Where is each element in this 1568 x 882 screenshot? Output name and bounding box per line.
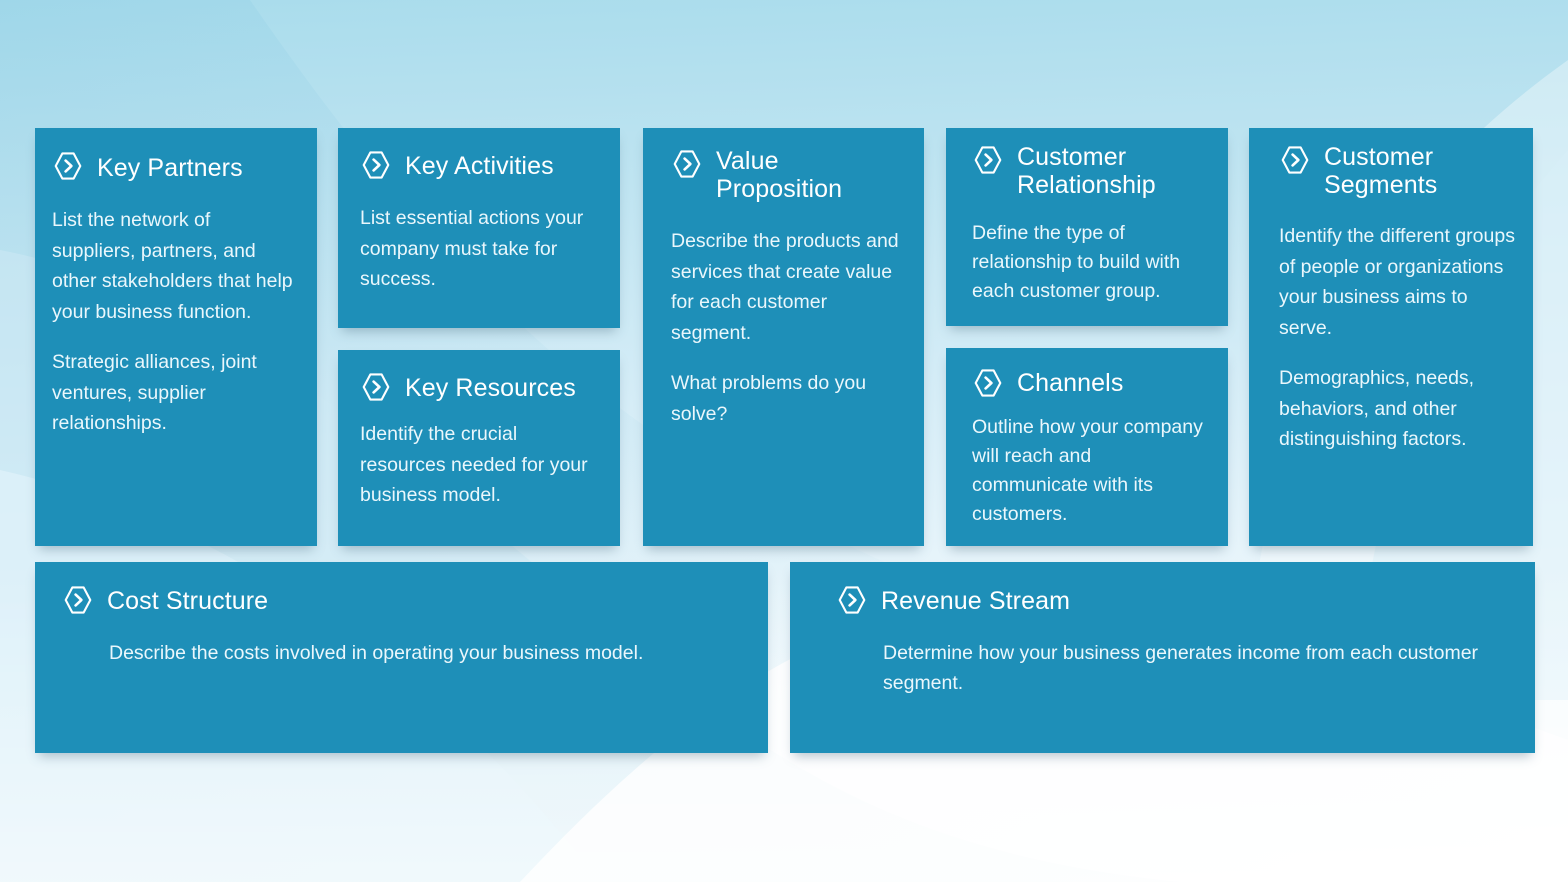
- card-title: Customer Segments: [1324, 144, 1519, 199]
- card-body: Outline how your company will reach and …: [972, 413, 1212, 529]
- card-header: Customer Segments: [1279, 144, 1519, 199]
- hexagon-chevron-right-icon: [836, 584, 868, 616]
- canvas-grid: Key Partners List the network of supplie…: [35, 128, 1535, 753]
- card-body: List the network of suppliers, partners,…: [52, 205, 297, 439]
- card-revenue-stream[interactable]: Revenue Stream Determine how your busine…: [790, 562, 1535, 753]
- hexagon-chevron-right-icon: [671, 148, 703, 180]
- card-title: Revenue Stream: [881, 584, 1070, 616]
- card-body: List essential actions your company must…: [360, 203, 600, 295]
- card-title: Key Activities: [405, 149, 554, 181]
- card-header: Key Partners: [52, 150, 297, 183]
- hexagon-chevron-right-icon: [360, 149, 392, 181]
- card-paragraph: Determine how your business generates in…: [883, 638, 1515, 698]
- card-title: Key Partners: [97, 150, 243, 183]
- card-body: Define the type of relationship to build…: [972, 219, 1212, 306]
- card-paragraph: Strategic alliances, joint ventures, sup…: [52, 347, 297, 439]
- card-header: Cost Structure: [62, 584, 748, 616]
- card-paragraph: Describe the costs involved in operating…: [109, 638, 748, 668]
- card-header: Value Proposition: [671, 148, 906, 203]
- card-key-partners[interactable]: Key Partners List the network of supplie…: [35, 128, 317, 546]
- card-title: Customer Relationship: [1017, 144, 1212, 199]
- business-model-canvas-slide: Key Partners List the network of supplie…: [0, 0, 1568, 882]
- hexagon-chevron-right-icon: [62, 584, 94, 616]
- card-customer-relationship[interactable]: Customer Relationship Define the type of…: [946, 128, 1228, 326]
- card-body: Describe the costs involved in operating…: [62, 638, 748, 668]
- card-key-activities[interactable]: Key Activities List essential actions yo…: [338, 128, 620, 328]
- card-paragraph: Identify the crucial resources needed fo…: [360, 419, 602, 511]
- card-paragraph: List the network of suppliers, partners,…: [52, 205, 297, 327]
- card-paragraph: Demographics, needs, behaviors, and othe…: [1279, 363, 1519, 455]
- card-paragraph: List essential actions your company must…: [360, 203, 600, 295]
- card-value-proposition[interactable]: Value Proposition Describe the products …: [643, 128, 924, 546]
- hexagon-chevron-right-icon: [360, 371, 392, 403]
- card-header: Revenue Stream: [836, 584, 1515, 616]
- card-title: Cost Structure: [107, 584, 268, 616]
- hexagon-chevron-right-icon: [1279, 144, 1311, 176]
- card-customer-segments[interactable]: Customer Segments Identify the different…: [1249, 128, 1533, 546]
- card-cost-structure[interactable]: Cost Structure Describe the costs involv…: [35, 562, 768, 753]
- card-channels[interactable]: Channels Outline how your company will r…: [946, 348, 1228, 546]
- hexagon-chevron-right-icon: [972, 367, 1004, 399]
- card-body: Describe the products and services that …: [671, 226, 906, 429]
- card-paragraph: What problems do you solve?: [671, 368, 906, 429]
- card-body: Identify the different groups of people …: [1279, 221, 1519, 455]
- card-body: Determine how your business generates in…: [836, 638, 1515, 698]
- card-title: Value Proposition: [716, 148, 906, 203]
- card-paragraph: Outline how your company will reach and …: [972, 413, 1212, 529]
- card-key-resources[interactable]: Key Resources Identify the crucial resou…: [338, 350, 620, 546]
- card-paragraph: Define the type of relationship to build…: [972, 219, 1212, 306]
- card-header: Customer Relationship: [972, 144, 1212, 199]
- hexagon-chevron-right-icon: [972, 144, 1004, 176]
- card-paragraph: Describe the products and services that …: [671, 226, 906, 348]
- card-body: Identify the crucial resources needed fo…: [360, 419, 602, 511]
- card-paragraph: Identify the different groups of people …: [1279, 221, 1519, 343]
- card-title: Key Resources: [405, 371, 576, 403]
- hexagon-chevron-right-icon: [52, 150, 84, 182]
- card-header: Key Resources: [360, 371, 602, 403]
- card-title: Channels: [1017, 367, 1123, 398]
- card-header: Channels: [972, 367, 1212, 399]
- card-header: Key Activities: [360, 149, 600, 181]
